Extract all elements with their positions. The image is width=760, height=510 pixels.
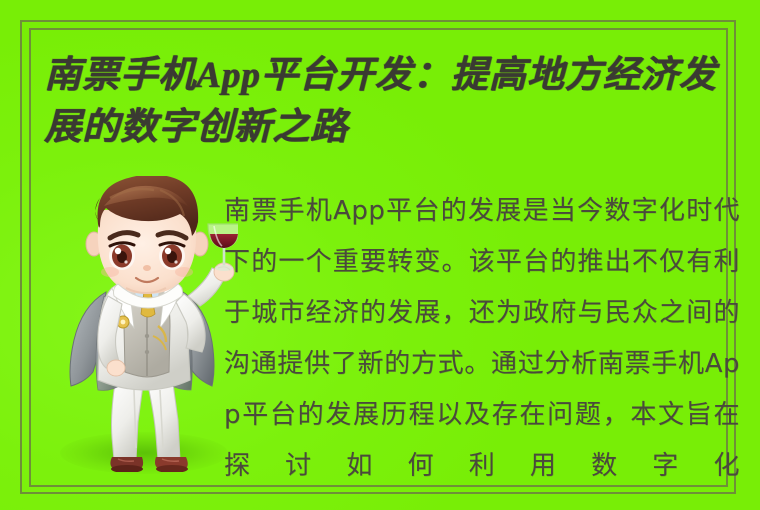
poster-canvas: 南票手机App平台开发：提高地方经济发展的数字创新之路 南票手机App平台的发展… bbox=[0, 0, 760, 510]
mascot-illustration bbox=[48, 176, 238, 472]
poster-body-paragraph: 南票手机App平台的发展是当今数字化时代下的一个重要转变。该平台的推出不仅有利于… bbox=[224, 186, 740, 492]
mascot-shoes bbox=[110, 457, 188, 472]
mascot-head bbox=[86, 176, 208, 294]
poster-title: 南票手机App平台开发：提高地方经济发展的数字创新之路 bbox=[44, 50, 750, 154]
